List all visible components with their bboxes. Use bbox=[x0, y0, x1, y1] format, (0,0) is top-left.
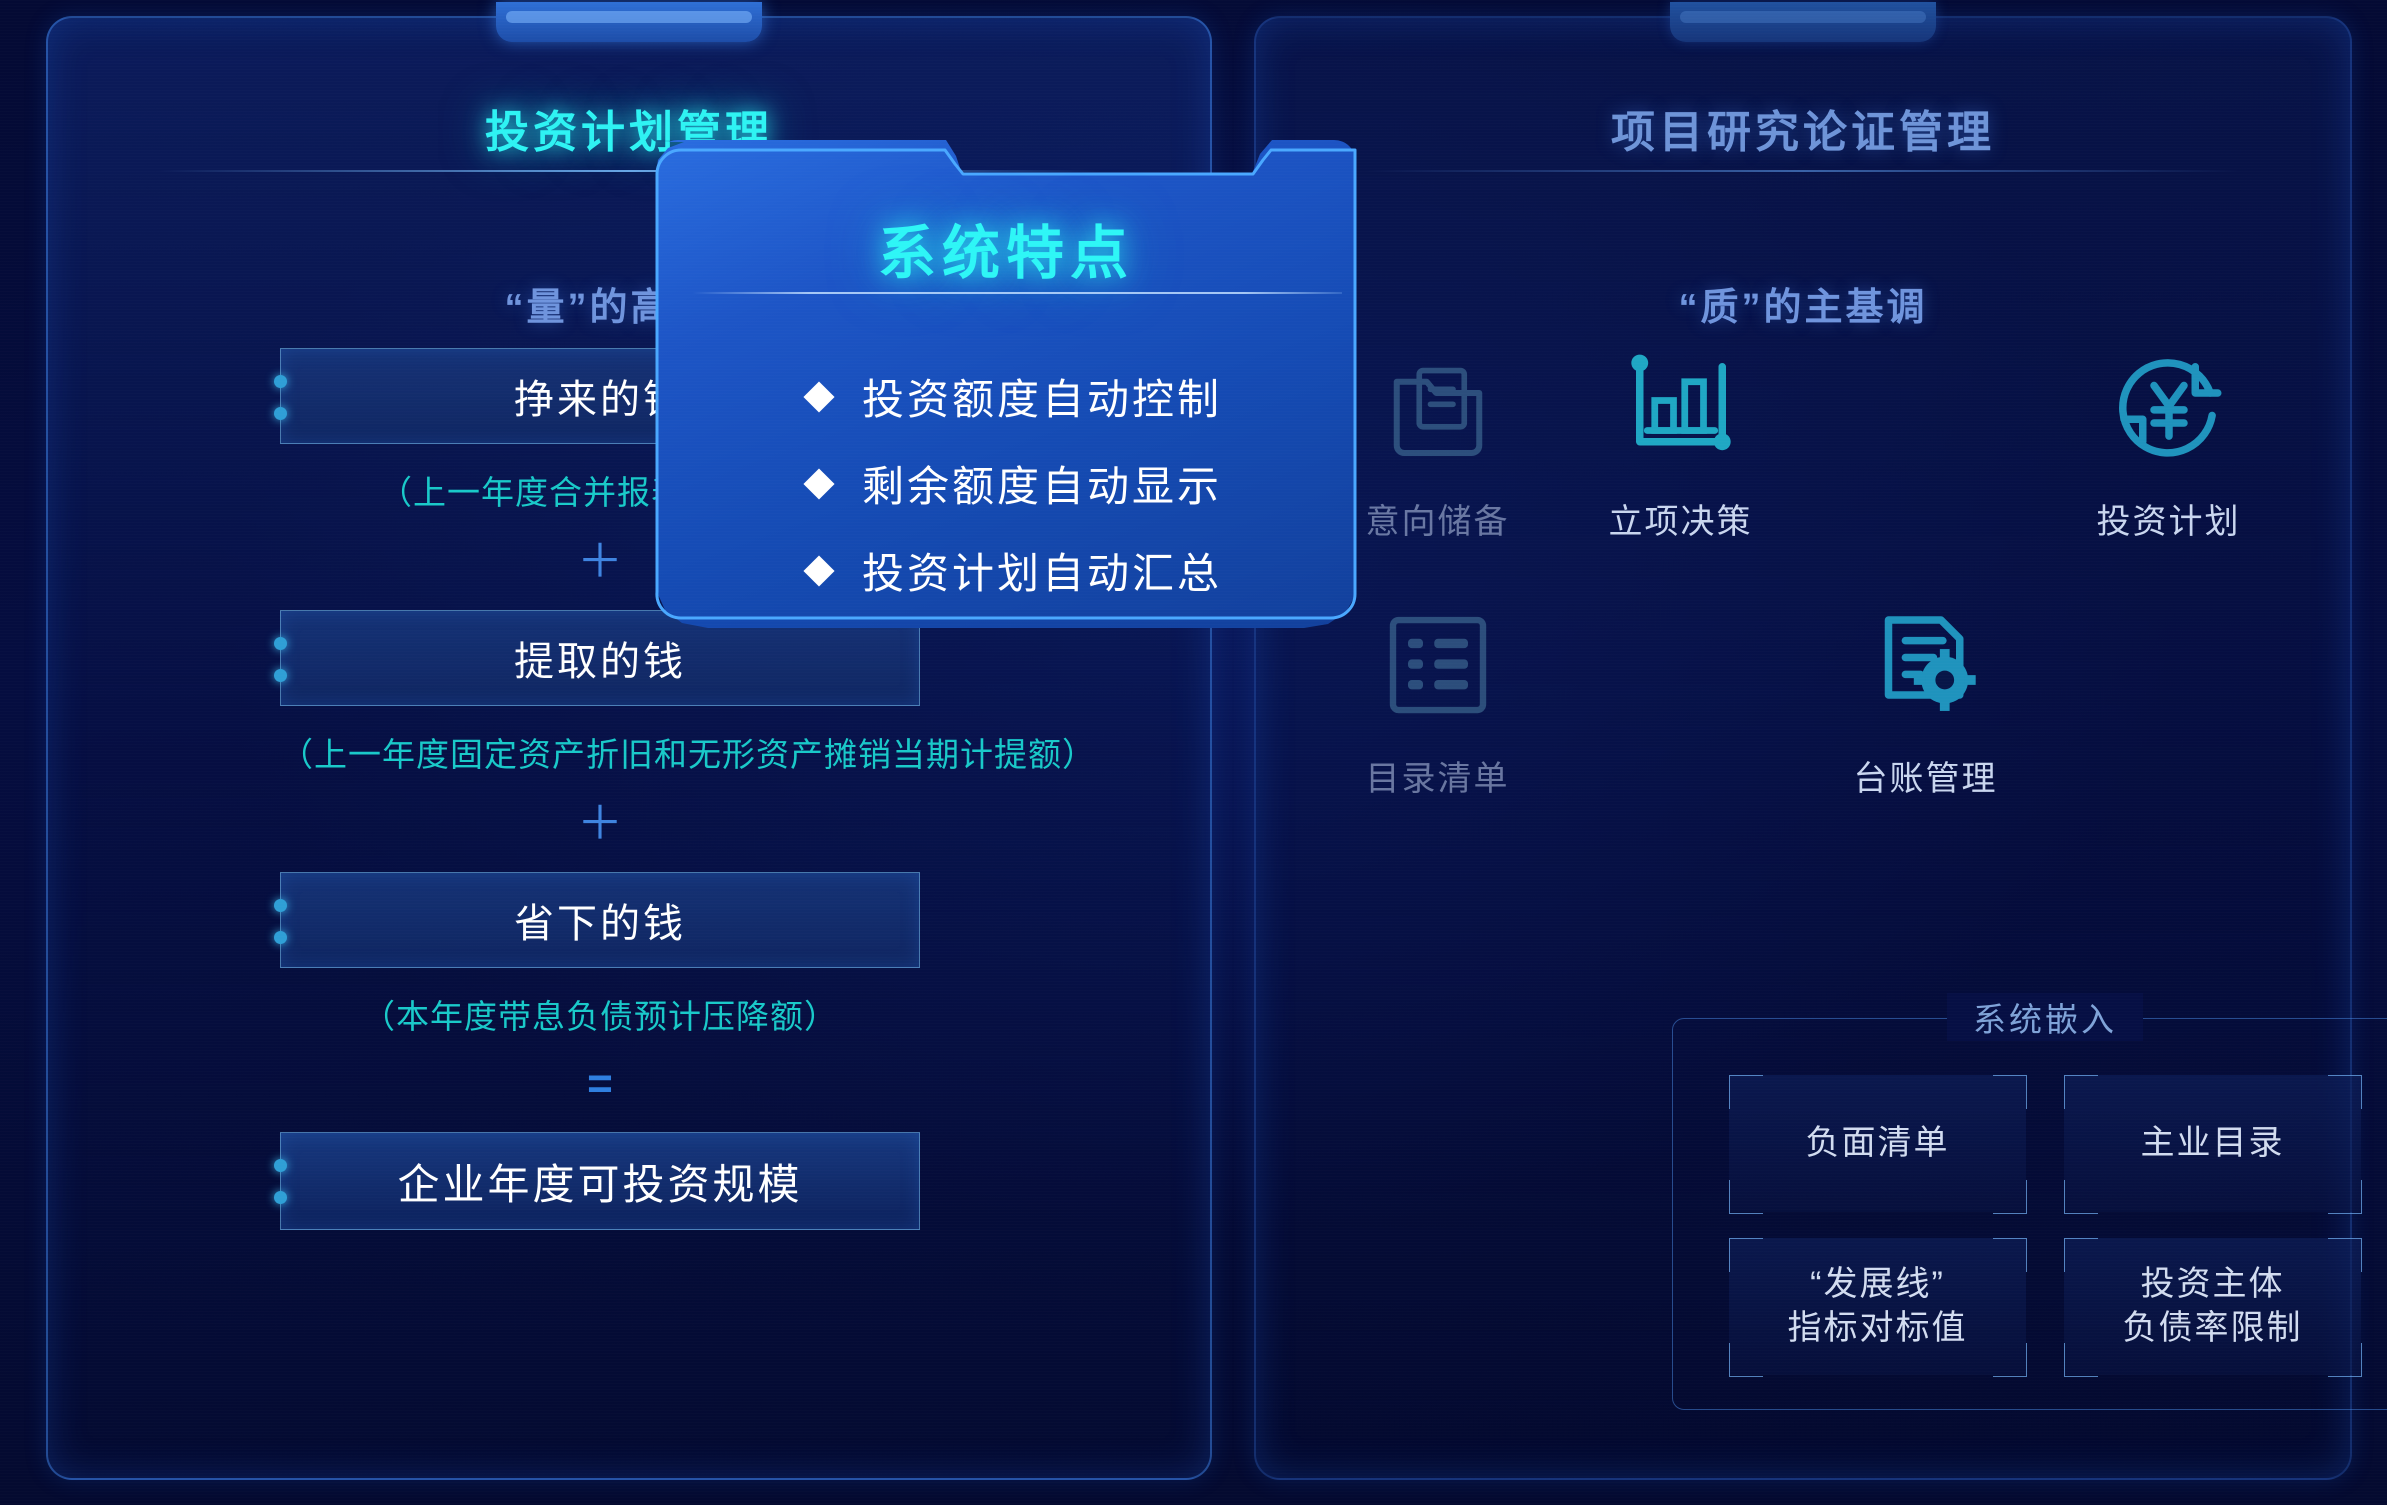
module-label: 台账管理 bbox=[1804, 751, 2047, 800]
right-title-divider bbox=[1366, 170, 2240, 172]
module-label: 立项决策 bbox=[1559, 494, 1802, 543]
right-panel-notch bbox=[1670, 2, 1936, 42]
right-panel-subtitle: “质”的主基调 bbox=[1256, 276, 2350, 331]
feature-item-label: 投资额度自动控制 bbox=[862, 366, 1222, 427]
flow-operator-plus-2: ＋ bbox=[280, 800, 920, 846]
embed-box-negative-list[interactable]: 负面清单 bbox=[1729, 1075, 2026, 1212]
flow-box-label: 提取的钱 bbox=[514, 629, 686, 687]
connector-dot bbox=[274, 1159, 287, 1172]
flow-operator-equals: = bbox=[280, 1062, 920, 1106]
module-project-decision[interactable]: 立项决策 bbox=[1559, 348, 1802, 543]
slide-stage: 投资计划管理 “量”的高标准 挣来的钱 （上一年度合并报表净利润） ＋ 提取的钱… bbox=[0, 0, 2387, 1505]
document-gear-icon bbox=[1866, 605, 1986, 725]
connector-dot bbox=[274, 669, 287, 682]
module-icon-grid: 意向储备 立项决策 bbox=[1316, 348, 2290, 800]
embed-box-label: 负面清单 bbox=[1806, 1122, 1950, 1166]
connector-dot bbox=[274, 899, 287, 912]
embed-box-label: 主业目录 bbox=[2141, 1122, 2285, 1166]
connector-dot bbox=[274, 1191, 287, 1204]
feature-item: 投资额度自动控制 bbox=[808, 366, 1316, 427]
embed-box-main-business-catalog[interactable]: 主业目录 bbox=[2064, 1075, 2361, 1212]
diamond-bullet-icon bbox=[803, 381, 834, 412]
right-panel-title: 项目研究论证管理 bbox=[1256, 96, 2350, 160]
connector-dot bbox=[274, 407, 287, 420]
system-embed-grid: 负面清单 主业目录 “发展线”指标对标值 投资主体负债率限制 bbox=[1729, 1075, 2361, 1375]
system-embed-tab-label: 系统嵌入 bbox=[1947, 993, 2143, 1041]
bar-chart-icon bbox=[1621, 348, 1741, 468]
list-icon bbox=[1378, 605, 1498, 725]
yen-circle-icon bbox=[2109, 348, 2229, 468]
folder-doc-icon bbox=[1378, 348, 1498, 468]
flow-note-extracted: （上一年度固定资产折旧和无形资产摊销当期计提额） bbox=[280, 728, 920, 776]
connector-dot bbox=[274, 931, 287, 944]
embed-box-development-line[interactable]: “发展线”指标对标值 bbox=[1729, 1238, 2026, 1375]
connector-dot bbox=[274, 637, 287, 650]
module-icon-row-1: 意向储备 立项决策 bbox=[1316, 348, 2290, 543]
module-investment-plan[interactable]: 投资计划 bbox=[2047, 348, 2290, 543]
feature-list: 投资额度自动控制 剩余额度自动显示 投资计划自动汇总 bbox=[808, 366, 1316, 601]
flow-box-saved[interactable]: 省下的钱 bbox=[280, 872, 920, 968]
feature-card-title: 系统特点 bbox=[656, 206, 1356, 290]
feature-card-divider bbox=[692, 292, 1342, 294]
diamond-bullet-icon bbox=[803, 468, 834, 499]
module-label: 投资计划 bbox=[2047, 494, 2290, 543]
diamond-bullet-icon bbox=[803, 555, 834, 586]
right-panel: 项目研究论证管理 “质”的主基调 意向储备 bbox=[1254, 16, 2352, 1480]
module-catalog-list[interactable]: 目录清单 bbox=[1316, 605, 1559, 800]
module-ledger-management[interactable]: 台账管理 bbox=[1804, 605, 2047, 800]
embed-box-debt-ratio-limit[interactable]: 投资主体负债率限制 bbox=[2064, 1238, 2361, 1375]
connector-dot bbox=[274, 375, 287, 388]
module-label: 目录清单 bbox=[1316, 751, 1559, 800]
feature-item-label: 剩余额度自动显示 bbox=[862, 453, 1222, 514]
feature-item: 投资计划自动汇总 bbox=[808, 540, 1316, 601]
flow-box-label: 省下的钱 bbox=[514, 891, 686, 949]
system-features-card[interactable]: 系统特点 投资额度自动控制 剩余额度自动显示 投资计划自动汇总 bbox=[656, 140, 1356, 628]
left-panel-notch bbox=[496, 2, 762, 42]
flow-box-result[interactable]: 企业年度可投资规模 bbox=[280, 1132, 920, 1230]
flow-box-label: 企业年度可投资规模 bbox=[397, 1151, 802, 1212]
feature-item: 剩余额度自动显示 bbox=[808, 453, 1316, 514]
embed-box-label: “发展线”指标对标值 bbox=[1788, 1263, 1968, 1350]
embed-box-label: 投资主体负债率限制 bbox=[2123, 1263, 2303, 1350]
system-embed-section: 系统嵌入 负面清单 主业目录 “发展线”指标对标值 投资主体负债率限制 bbox=[1672, 1018, 2387, 1410]
feature-item-label: 投资计划自动汇总 bbox=[862, 540, 1222, 601]
module-icon-row-2: 目录清单 bbox=[1316, 605, 2290, 800]
flow-note-saved: （本年度带息负债预计压降额） bbox=[280, 990, 920, 1038]
